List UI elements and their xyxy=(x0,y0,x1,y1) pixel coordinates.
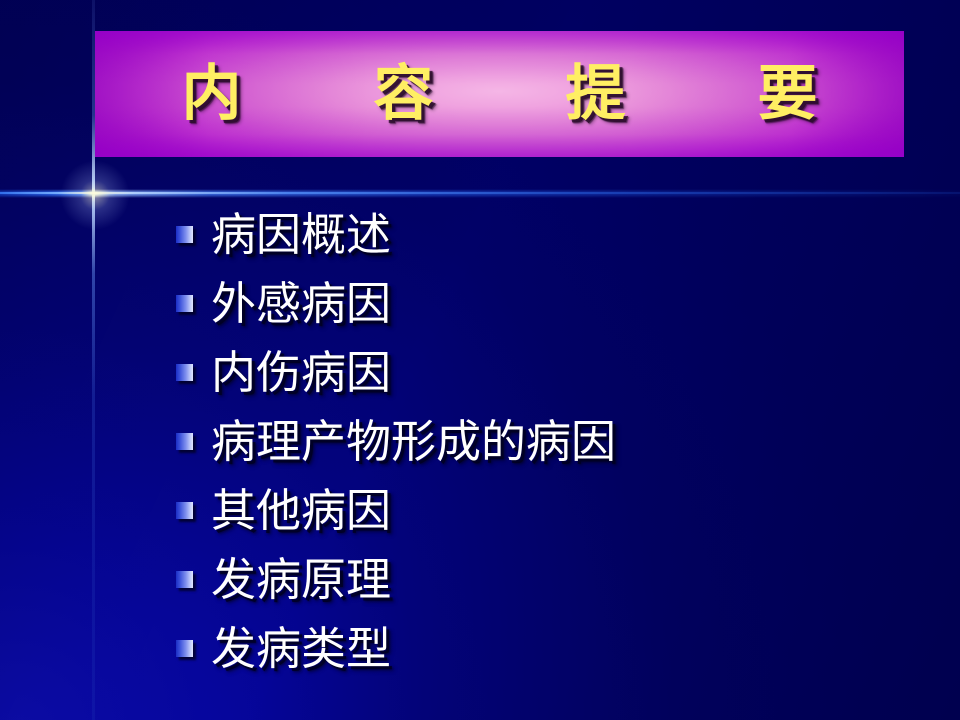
square-bullet-icon xyxy=(176,433,193,450)
list-item: 发病原理 xyxy=(176,545,936,614)
presentation-slide: 内 容 提 要 病因概述 外感病因 内伤病因 病理产物形成的病因 其他病因 发病… xyxy=(0,0,960,720)
decorative-horizontal-line-core xyxy=(0,192,960,194)
square-bullet-icon xyxy=(176,640,193,657)
list-item-label: 病因概述 xyxy=(211,212,391,257)
list-item: 发病类型 xyxy=(176,614,936,683)
list-item-label: 内伤病因 xyxy=(211,350,391,395)
square-bullet-icon xyxy=(176,502,193,519)
list-item-label: 发病类型 xyxy=(211,626,391,671)
title-banner: 内 容 提 要 xyxy=(95,31,904,157)
list-item: 其他病因 xyxy=(176,476,936,545)
list-item-label: 外感病因 xyxy=(211,281,391,326)
list-item: 内伤病因 xyxy=(176,338,936,407)
list-item-label: 发病原理 xyxy=(211,557,391,602)
list-item-label: 其他病因 xyxy=(211,488,391,533)
square-bullet-icon xyxy=(176,364,193,381)
list-item: 外感病因 xyxy=(176,269,936,338)
bullet-list: 病因概述 外感病因 内伤病因 病理产物形成的病因 其他病因 发病原理 发病类型 xyxy=(176,200,936,683)
slide-title: 内 容 提 要 xyxy=(95,31,904,157)
square-bullet-icon xyxy=(176,571,193,588)
square-bullet-icon xyxy=(176,295,193,312)
list-item: 病因概述 xyxy=(176,200,936,269)
list-item-label: 病理产物形成的病因 xyxy=(211,419,616,464)
square-bullet-icon xyxy=(176,226,193,243)
list-item: 病理产物形成的病因 xyxy=(176,407,936,476)
